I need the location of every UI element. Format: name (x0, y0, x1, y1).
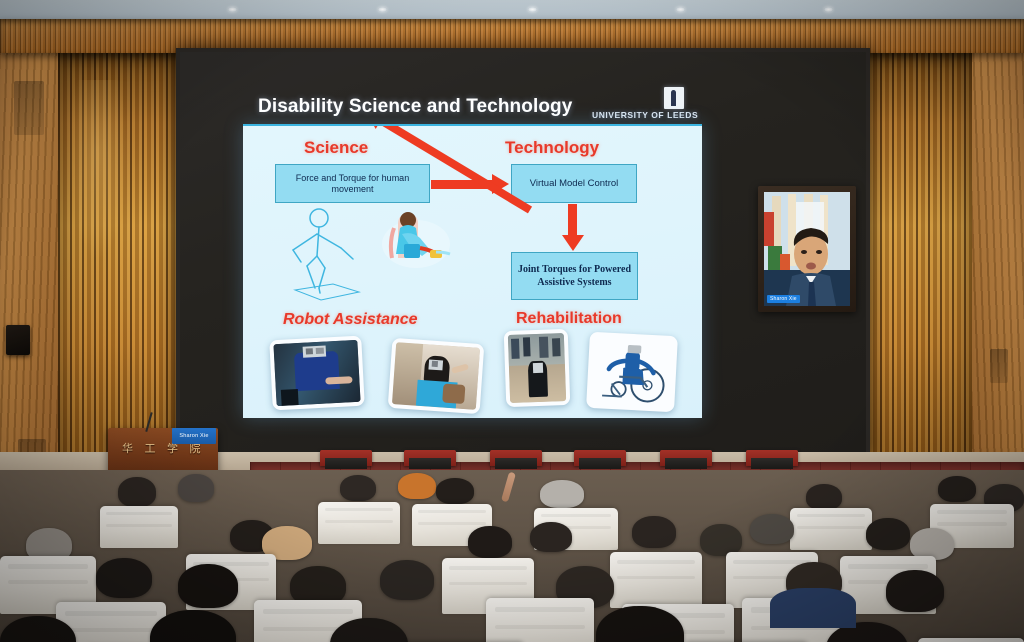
audience-head (750, 514, 794, 544)
photo-feeding-assistance (388, 338, 485, 414)
auditorium-scene: Disability Science and Technology UNIVER… (0, 0, 1024, 642)
audience-head (468, 526, 512, 558)
box-joint-torques: Joint Torques for Powered Assistive Syst… (511, 252, 638, 300)
audience-head (530, 522, 572, 552)
audience-head (340, 475, 376, 501)
audience-chair (486, 598, 594, 642)
ceiling-light-icon (528, 7, 537, 12)
audience-area (0, 470, 1024, 642)
slide-content-area: Science Technology Force and Torque for … (243, 124, 702, 418)
wall-vent (990, 349, 1008, 383)
slide-title: Disability Science and Technology (258, 96, 572, 118)
institution-label: UNIVERSITY OF LEEDS (592, 110, 698, 120)
stage-nameplate (660, 450, 712, 466)
video-name-label: Sharon Xie (767, 295, 800, 303)
audience-head (436, 478, 474, 504)
arrow-technology-to-joint-torques-icon (568, 204, 577, 236)
podium-name-tag: Sharon Xie (172, 428, 216, 444)
remote-speaker-video-panel[interactable]: Sharon Xie (758, 186, 856, 312)
heading-rehabilitation: Rehabilitation (516, 310, 622, 328)
stage-nameplate (320, 450, 372, 466)
audience-shoulder (770, 588, 856, 628)
audience-chair (790, 508, 872, 550)
audience-head (938, 476, 976, 502)
stage-nameplate (404, 450, 456, 466)
stick-figure-illustration (279, 204, 375, 304)
audience-chair (100, 506, 178, 548)
audience-head (866, 518, 910, 550)
stage-nameplate (746, 450, 798, 466)
box-virtual-model-control: Virtual Model Control (511, 164, 637, 203)
audience-head (540, 480, 584, 508)
leeds-shield-icon (664, 87, 684, 109)
audience-head (178, 564, 238, 608)
audience-chair (610, 552, 702, 608)
ceiling-light-icon (676, 7, 685, 12)
left-curtain (58, 47, 190, 472)
heading-technology: Technology (505, 138, 599, 158)
right-curtain (856, 47, 972, 472)
ceiling-light-icon (228, 7, 237, 12)
audience-head (380, 560, 434, 600)
audience-head (118, 477, 156, 507)
audience-head (178, 474, 214, 502)
podium-name-tag-text: Sharon Xie (179, 433, 208, 439)
wall-speaker-icon (6, 325, 30, 355)
box-force-torque: Force and Torque for human movement (275, 164, 430, 203)
audience-head (398, 473, 436, 499)
wall-vent (14, 81, 44, 135)
video-feed: Sharon Xie (764, 192, 850, 306)
audience-head (632, 516, 676, 548)
audience-head (806, 484, 842, 510)
audience-head (96, 558, 152, 598)
ceiling-light-icon (824, 7, 833, 12)
stage-nameplate (574, 450, 626, 466)
heading-science: Science (304, 138, 368, 158)
stage-nameplate (490, 450, 542, 466)
photo-street-rehab (504, 329, 571, 407)
photo-wheelchair-user (586, 332, 678, 413)
audience-head (886, 570, 944, 612)
audience-chair (318, 502, 400, 544)
photo-robot-arm-user (269, 336, 365, 411)
ceiling-light-icon (378, 7, 387, 12)
therapist-clipart-illustration (380, 210, 452, 272)
heading-robot-assistance: Robot Assistance (283, 311, 418, 329)
audience-chair (918, 638, 1024, 642)
